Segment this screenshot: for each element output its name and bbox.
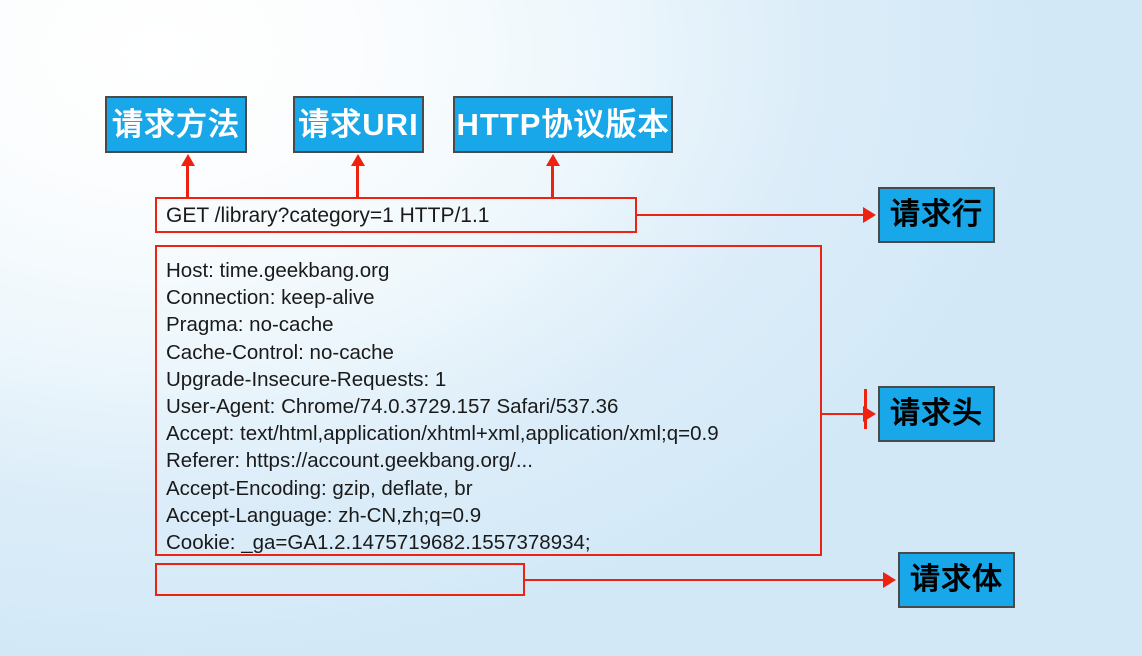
diagram-canvas: 请求方法 请求URI HTTP协议版本 GET /library?categor…: [0, 0, 1142, 656]
label-box-http-version: HTTP协议版本: [453, 96, 673, 153]
connector-request-line-to-label: [637, 214, 865, 216]
label-box-request-headers-text: 请求头: [890, 399, 983, 429]
request-header-line: Referer: https://account.geekbang.org/..…: [166, 447, 719, 474]
request-header-line: Pragma: no-cache: [166, 311, 719, 338]
arrow-up-uri-icon: [351, 154, 365, 166]
label-box-request-uri: 请求URI: [293, 96, 424, 153]
request-body-box: [155, 563, 525, 596]
label-box-request-method-text: 请求方法: [112, 109, 240, 140]
request-header-line: Connection: keep-alive: [166, 284, 719, 311]
request-headers-text: Host: time.geekbang.orgConnection: keep-…: [166, 257, 719, 556]
request-header-line: Cache-Control: no-cache: [166, 339, 719, 366]
arrow-up-method-icon: [181, 154, 195, 166]
arrow-right-request-headers-icon: [863, 406, 876, 422]
arrow-up-version-icon: [546, 154, 560, 166]
connector-request-body-to-label: [525, 579, 885, 581]
connector-line-method: [186, 165, 189, 198]
label-box-request-method: 请求方法: [105, 96, 247, 153]
label-box-http-version-text: HTTP协议版本: [457, 109, 670, 140]
request-header-line: Host: time.geekbang.org: [166, 257, 719, 284]
request-body-text: [157, 565, 523, 573]
request-header-line: Accept-Language: zh-CN,zh;q=0.9: [166, 502, 719, 529]
request-header-line: Cookie: _ga=GA1.2.1475719682.1557378934;: [166, 529, 719, 556]
label-box-request-uri-text: 请求URI: [298, 109, 418, 140]
label-box-request-line: 请求行: [878, 187, 995, 243]
connector-line-version: [551, 165, 554, 198]
arrow-right-request-line-icon: [863, 207, 876, 223]
request-header-line: Accept-Encoding: gzip, deflate, br: [166, 475, 719, 502]
request-line-text: GET /library?category=1 HTTP/1.1: [166, 205, 490, 226]
label-box-request-line-text: 请求行: [890, 200, 983, 230]
request-header-line: User-Agent: Chrome/74.0.3729.157 Safari/…: [166, 393, 719, 420]
label-box-request-body-text: 请求体: [910, 565, 1003, 595]
connector-request-headers-left: [822, 413, 865, 415]
connector-line-uri: [356, 165, 359, 198]
request-header-line: Upgrade-Insecure-Requests: 1: [166, 366, 719, 393]
request-header-line: Accept: text/html,application/xhtml+xml,…: [166, 420, 719, 447]
arrow-right-request-body-icon: [883, 572, 896, 588]
label-box-request-headers: 请求头: [878, 386, 995, 442]
label-box-request-body: 请求体: [898, 552, 1015, 608]
